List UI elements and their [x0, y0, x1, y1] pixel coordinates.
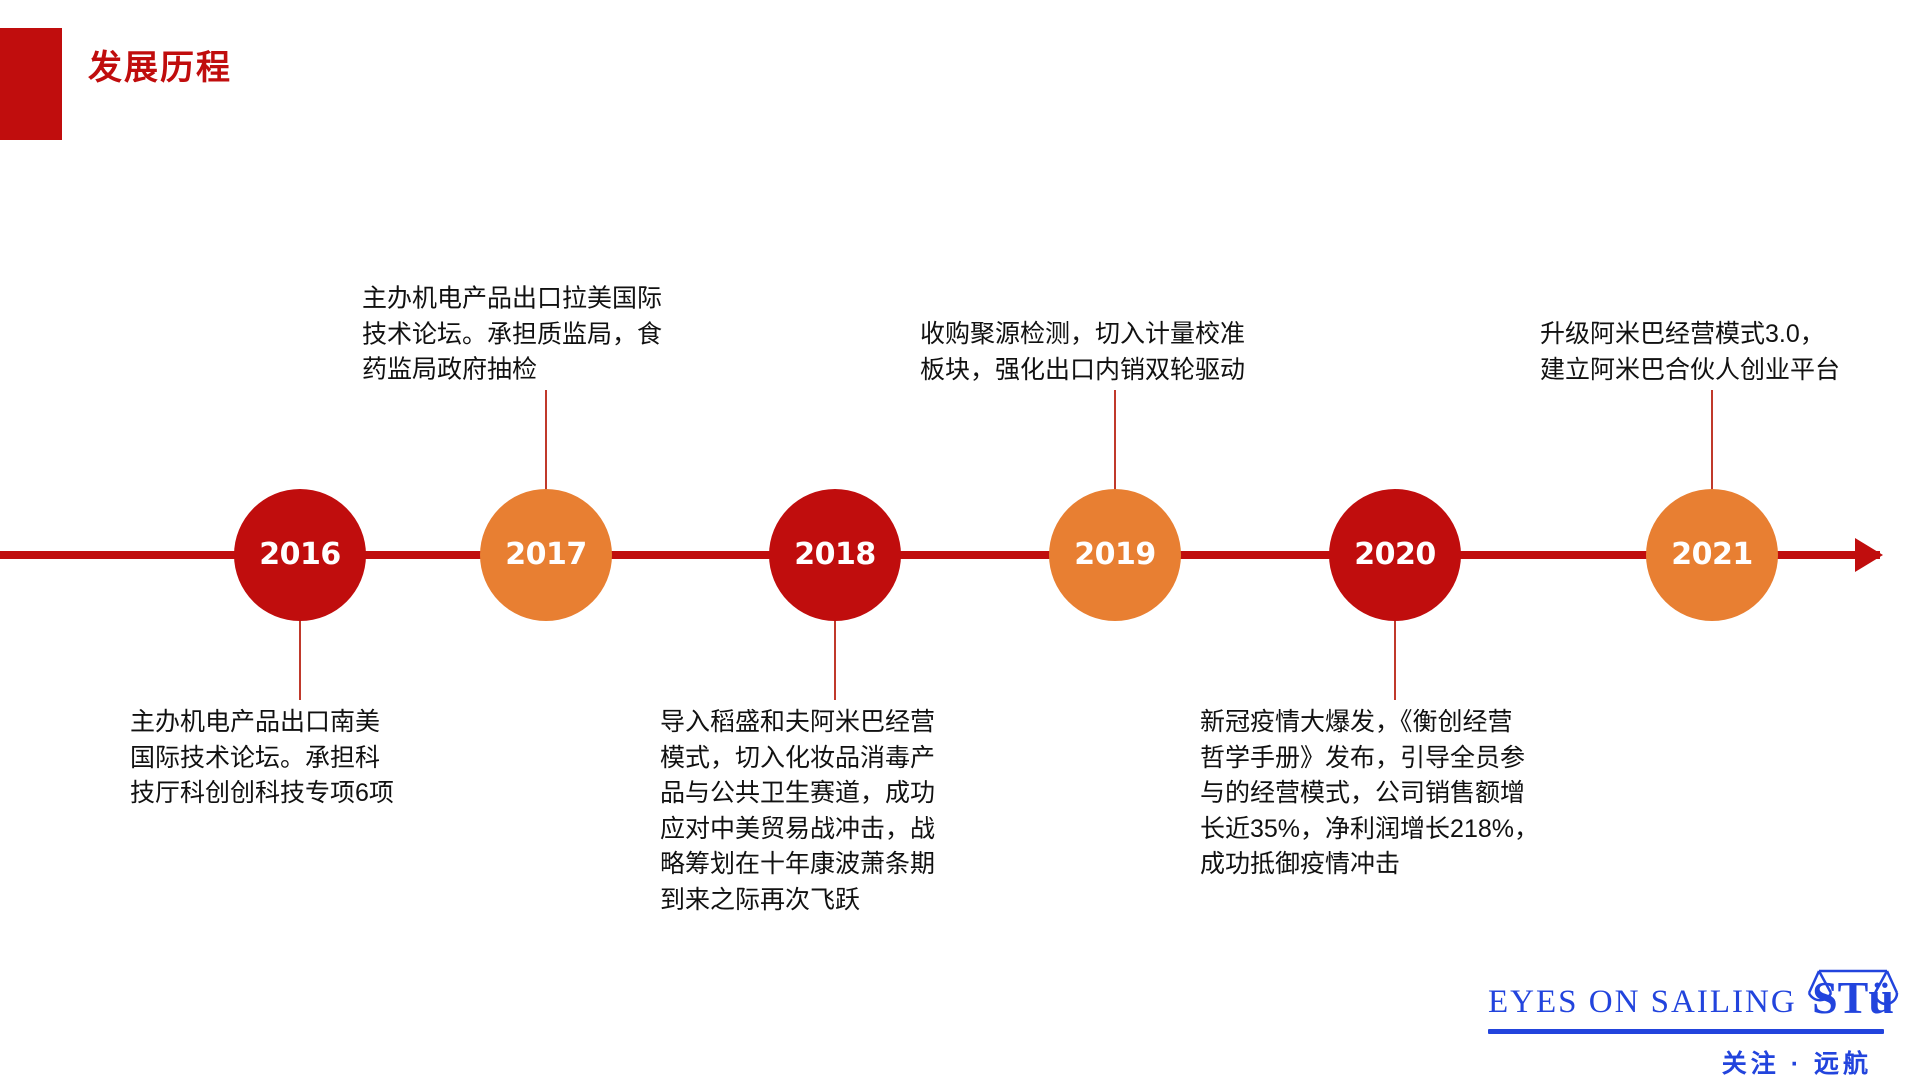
milestone-year-label: 2019 — [1074, 540, 1156, 570]
milestone-connector-2018 — [834, 620, 836, 700]
milestone-year-label: 2020 — [1354, 540, 1436, 570]
company-logo: EYES ON SAILING STü 关注 · 远航 — [1488, 963, 1888, 1073]
milestone-description-2019: 收购聚源检测，切入计量校准 板块，强化出口内销双轮驱动 — [920, 317, 1320, 388]
page-title: 发展历程 — [88, 48, 232, 89]
svg-text:STü: STü — [1812, 972, 1894, 1023]
milestone-description-2017: 主办机电产品出口拉美国际 技术论坛。承担质监局，食 药监局政府抽检 — [362, 282, 722, 389]
milestone-node-2020[interactable]: 2020 — [1329, 489, 1461, 621]
milestone-year-label: 2016 — [259, 540, 341, 570]
milestone-description-2018: 导入稻盛和夫阿米巴经营 模式，切入化妆品消毒产 品与公共卫生赛道，成功 应对中美… — [660, 705, 1000, 918]
logo-divider — [1488, 1029, 1884, 1034]
timeline-arrow-icon — [1855, 538, 1883, 572]
milestone-connector-2019 — [1114, 390, 1116, 490]
milestone-year-label: 2017 — [505, 540, 587, 570]
logo-wordmark: EYES ON SAILING — [1488, 986, 1797, 1025]
milestone-description-2020: 新冠疫情大爆发，《衡创经营 哲学手册》发布，引导全员参 与的经营模式，公司销售额… — [1200, 705, 1590, 883]
logo-monogram-icon: STü — [1807, 963, 1899, 1025]
milestone-year-label: 2021 — [1671, 540, 1753, 570]
milestone-connector-2021 — [1711, 390, 1713, 490]
title-accent-block — [0, 28, 62, 140]
milestone-year-label: 2018 — [794, 540, 876, 570]
milestone-node-2018[interactable]: 2018 — [769, 489, 901, 621]
milestone-description-2021: 升级阿米巴经营模式3.0， 建立阿米巴合伙人创业平台 — [1540, 317, 1920, 388]
milestone-connector-2016 — [299, 620, 301, 700]
milestone-node-2021[interactable]: 2021 — [1646, 489, 1778, 621]
milestone-node-2019[interactable]: 2019 — [1049, 489, 1181, 621]
milestone-node-2016[interactable]: 2016 — [234, 489, 366, 621]
logo-tagline: 关注 · 远航 — [1488, 1044, 1888, 1080]
milestone-connector-2020 — [1394, 620, 1396, 700]
milestone-connector-2017 — [545, 390, 547, 490]
milestone-node-2017[interactable]: 2017 — [480, 489, 612, 621]
milestone-description-2016: 主办机电产品出口南美 国际技术论坛。承担科 技厅科创创科技专项6项 — [130, 705, 460, 812]
